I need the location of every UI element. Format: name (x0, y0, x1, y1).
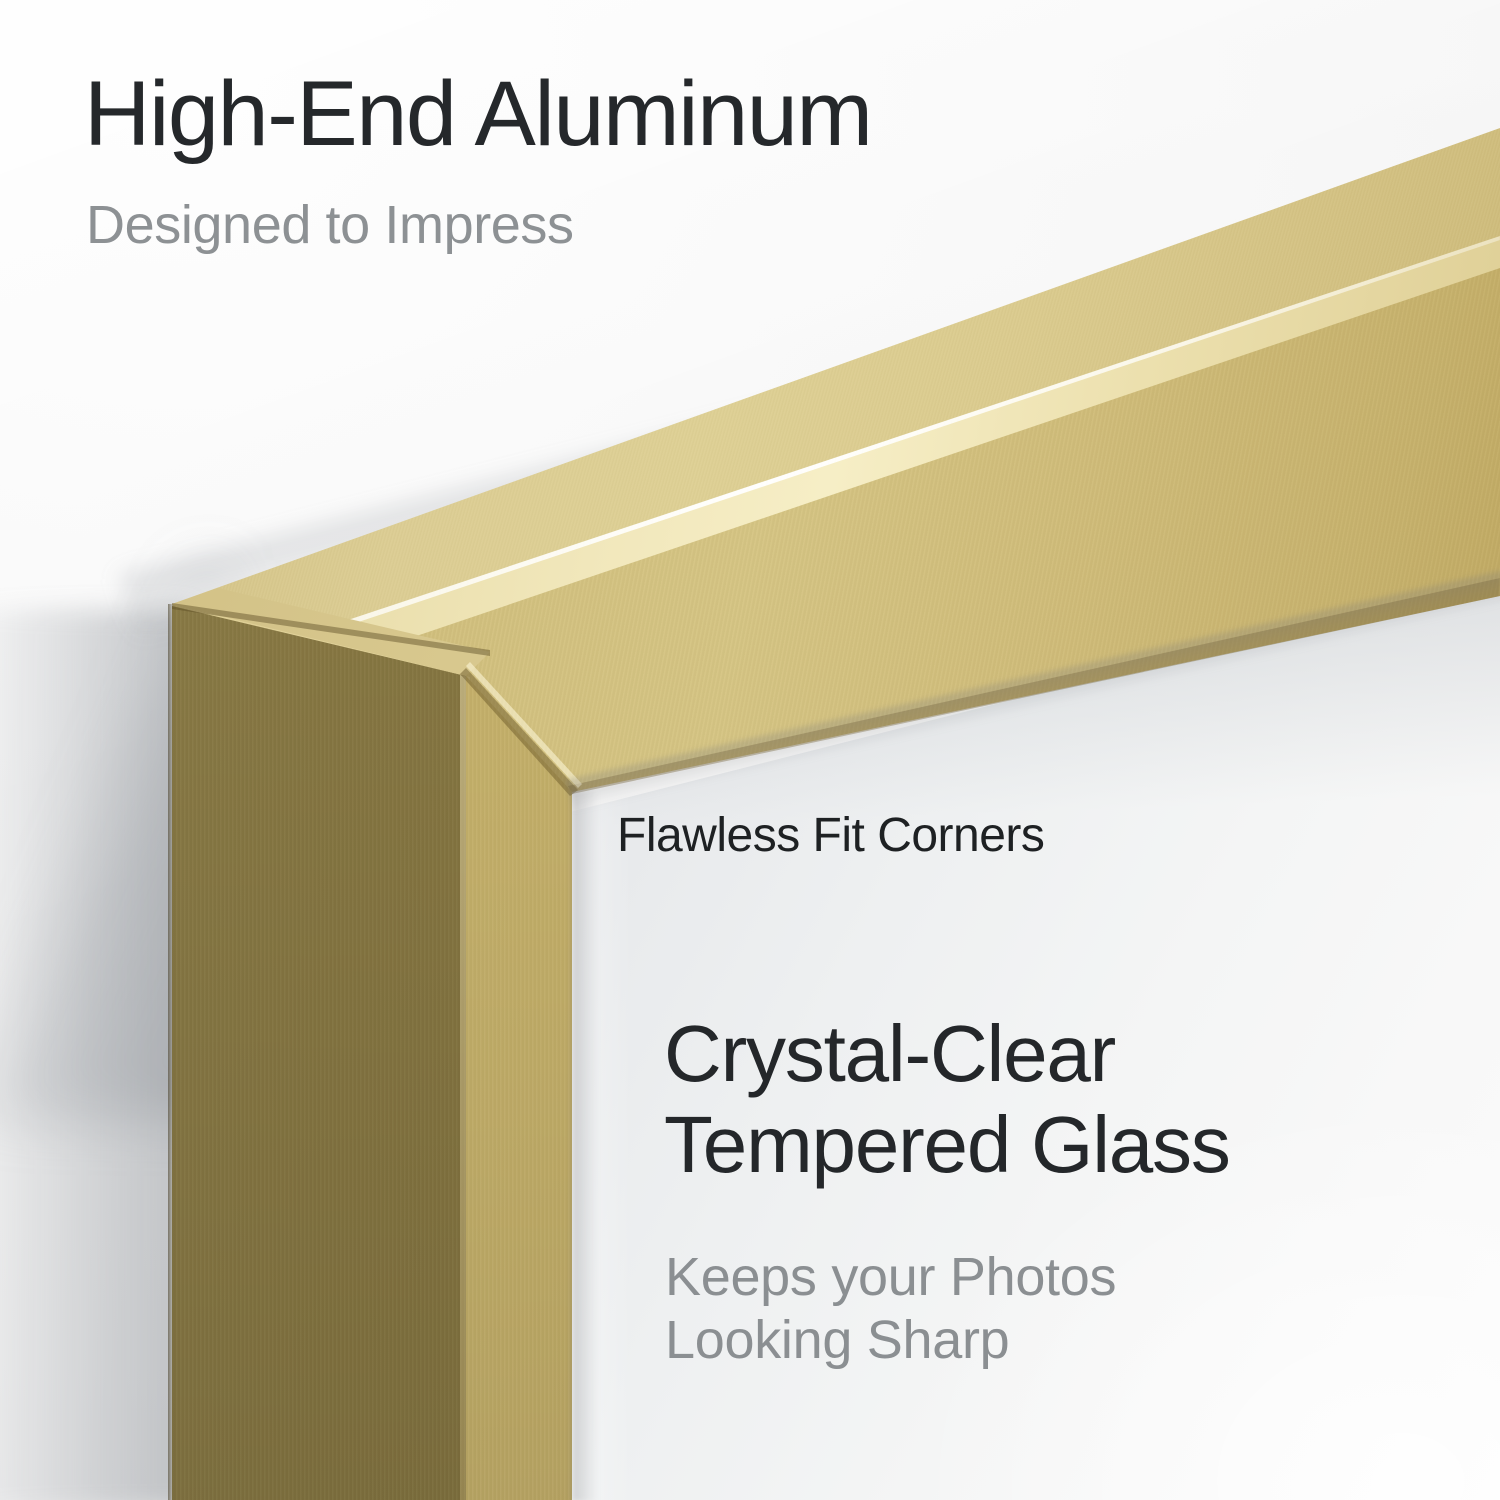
callout-glass-title: Crystal-Clear Tempered Glass (664, 1008, 1230, 1190)
callout-glass-subtitle: Keeps your Photos Looking Sharp (665, 1246, 1116, 1371)
page-subtitle: Designed to Impress (86, 198, 574, 252)
product-feature-image: High-End Aluminum Designed to Impress Fl… (0, 0, 1500, 1500)
frame-glass-contact-shadow-left (572, 790, 598, 1500)
callout-flawless-fit-corners: Flawless Fit Corners (617, 812, 1044, 860)
callout-glass-title-line-2: Tempered Glass (664, 1099, 1230, 1190)
callout-glass-subtitle-line-1: Keeps your Photos (665, 1246, 1116, 1309)
callout-glass-subtitle-line-2: Looking Sharp (665, 1309, 1116, 1372)
page-title: High-End Aluminum (84, 68, 872, 160)
callout-glass-title-line-1: Crystal-Clear (664, 1008, 1230, 1099)
